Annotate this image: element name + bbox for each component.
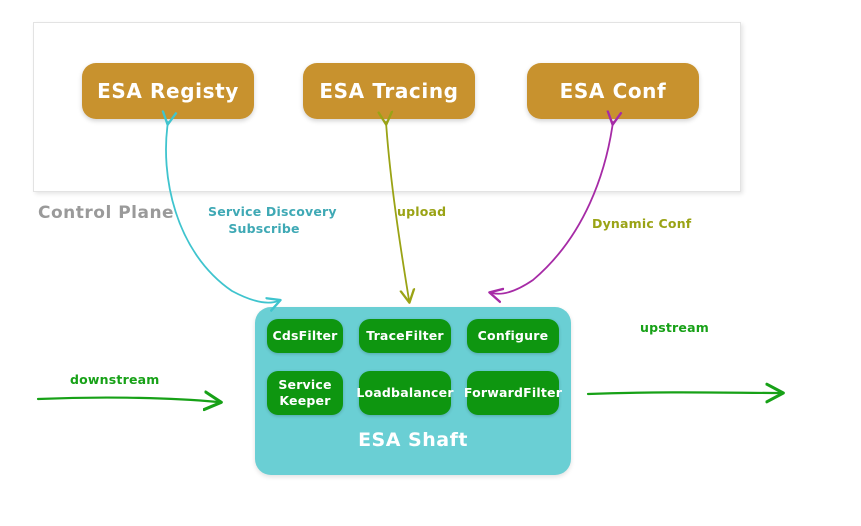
edge-label-dynamic-conf: Dynamic Conf xyxy=(592,216,691,233)
service-box-esa-tracing[interactable]: ESA Tracing xyxy=(303,63,475,119)
edge-label-upload: upload xyxy=(397,204,446,221)
filter-pill-service-keeper[interactable]: Service Keeper xyxy=(267,371,343,415)
edge-label-line1: Service Discovery xyxy=(208,204,320,221)
service-box-label: ESA Registy xyxy=(97,79,239,103)
connector-downstream xyxy=(38,398,218,402)
edge-label-line2: Subscribe xyxy=(208,221,320,238)
service-box-esa-registry[interactable]: ESA Registy xyxy=(82,63,254,119)
esa-shaft-title: ESA Shaft xyxy=(255,429,571,451)
edge-label-downstream: downstream xyxy=(70,372,160,389)
filter-pill-configure[interactable]: Configure xyxy=(467,319,559,353)
diagram-canvas: ESA Registy ESA Tracing ESA Conf Control… xyxy=(0,0,861,526)
edge-label-upstream: upstream xyxy=(640,320,709,337)
control-plane-label: Control Plane xyxy=(38,203,174,223)
filter-pill-loadbalancer[interactable]: Loadbalancer xyxy=(359,371,451,415)
filter-row-1: CdsFilter TraceFilter Configure xyxy=(267,319,559,353)
filter-pill-trace-filter[interactable]: TraceFilter xyxy=(359,319,451,353)
service-box-label: ESA Conf xyxy=(560,79,667,103)
esa-shaft-container: CdsFilter TraceFilter Configure Service … xyxy=(255,307,571,475)
filter-row-2: Service Keeper Loadbalancer ForwardFilte… xyxy=(267,371,559,415)
service-box-esa-conf[interactable]: ESA Conf xyxy=(527,63,699,119)
edge-label-service-discovery: Service Discovery Subscribe xyxy=(208,204,320,238)
connector-upstream xyxy=(588,392,780,394)
filter-pill-cds-filter[interactable]: CdsFilter xyxy=(267,319,343,353)
service-box-label: ESA Tracing xyxy=(319,79,458,103)
filter-pill-forward-filter[interactable]: ForwardFilter xyxy=(467,371,559,415)
